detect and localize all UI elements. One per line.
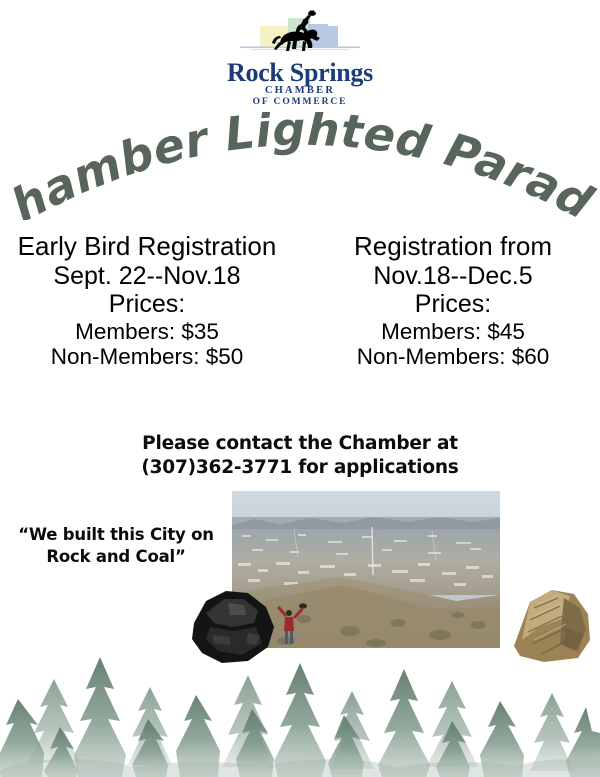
regular-non-members: Non-Members: $60 xyxy=(306,344,600,370)
early-bird-members: Members: $35 xyxy=(0,319,294,345)
contact-line-2: (307)362-3771 for applications xyxy=(0,456,600,480)
page-title-text: Chamber Lighted Parade xyxy=(0,112,600,220)
chamber-logo: Rock Springs CHAMBER OF COMMERCE xyxy=(0,8,600,108)
early-bird-non-members: Non-Members: $50 xyxy=(0,344,294,370)
logo-subtitle-chamber: CHAMBER xyxy=(200,86,400,97)
pricing-column-early-bird: Early Bird Registration Sept. 22--Nov.18… xyxy=(0,232,300,422)
contact-block: Please contact the Chamber at (307)362-3… xyxy=(0,432,600,481)
pricing-column-regular: Registration from Nov.18--Dec.5 Prices: … xyxy=(300,232,600,422)
pine-tree-border-image xyxy=(0,645,600,777)
logo-wordmark: Rock Springs xyxy=(200,60,400,86)
early-bird-heading: Early Bird Registration xyxy=(0,232,294,262)
city-slogan-line-2: Rock and Coal” xyxy=(8,546,224,568)
regular-members: Members: $45 xyxy=(306,319,600,345)
page-title: Chamber Lighted Parade xyxy=(0,112,600,220)
flyer-canvas: Rock Springs CHAMBER OF COMMERCE Chamber… xyxy=(0,0,600,777)
regular-prices-label: Prices: xyxy=(306,290,600,319)
logo-subtitle-commerce: OF COMMERCE xyxy=(200,98,400,108)
page-title-textpath: Chamber Lighted Parade xyxy=(0,112,600,220)
city-slogan: “We built this City on Rock and Coal” xyxy=(8,524,224,568)
contact-line-1: Please contact the Chamber at xyxy=(0,432,600,456)
regular-dates: Nov.18--Dec.5 xyxy=(306,262,600,291)
early-bird-dates: Sept. 22--Nov.18 xyxy=(0,262,294,291)
early-bird-prices-label: Prices: xyxy=(0,290,294,319)
pricing-columns: Early Bird Registration Sept. 22--Nov.18… xyxy=(0,232,600,422)
bucking-horse-rider-icon xyxy=(200,8,400,64)
pine-tree-border xyxy=(0,645,600,777)
city-slogan-line-1: “We built this City on xyxy=(8,524,224,546)
regular-heading: Registration from xyxy=(306,232,600,262)
